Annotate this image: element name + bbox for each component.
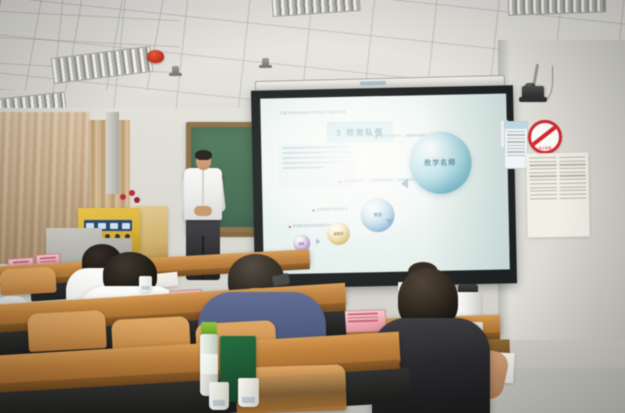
panel-button[interactable] (122, 223, 130, 229)
slide-bullet: 主持国家自然科学基金项目若干项 (292, 224, 331, 228)
classroom-photo: 高等学校教学质量与教学改革工程建设项目 3 师资队伍 省级教学名师若干人，校级教… (0, 0, 625, 413)
flower (120, 194, 126, 200)
housing-brand-label (360, 81, 386, 86)
notice-line (507, 138, 525, 139)
notice-line (559, 182, 586, 184)
slide-sphere-gold: 副教授 (327, 222, 350, 245)
slide-title-bar: 3 师资队伍 (327, 120, 393, 142)
notice-line (530, 187, 557, 189)
notice-line (507, 141, 525, 142)
wooden-lectern (136, 206, 168, 258)
text-line (282, 146, 346, 149)
slide-arrow-left-icon (401, 178, 408, 188)
slide-sphere-gold-label: 副教授 (334, 231, 344, 236)
sprinkler-head-icon (172, 66, 179, 75)
notice-line (507, 148, 525, 149)
paper-cup-in-hand (139, 276, 152, 292)
notice-board-header (505, 122, 527, 129)
wall-pillar (106, 112, 119, 194)
notice-line (559, 168, 586, 170)
presenter-hands (194, 206, 212, 216)
notice-line (507, 134, 525, 135)
water-bottle-label (200, 354, 218, 374)
no-smoking-slash (529, 124, 558, 148)
posted-notice-paper (526, 152, 589, 237)
slide-arrow-right-icon (316, 238, 320, 244)
paper-cup (209, 382, 229, 410)
notice-line (529, 164, 556, 166)
notice-line (530, 179, 557, 181)
chair-backrest (0, 267, 57, 296)
security-camera-base (519, 97, 547, 102)
notice-line (559, 171, 586, 173)
projection-screen-surface: 高等学校教学质量与教学改革工程建设项目 3 师资队伍 省级教学名师若干人，校级教… (260, 93, 510, 274)
notice-line (559, 160, 586, 162)
flower (134, 197, 140, 203)
notice-line (559, 190, 586, 192)
notice-line (559, 179, 586, 181)
notice-line (530, 198, 557, 200)
no-smoking-label: 禁止吸烟 (531, 146, 559, 150)
slide-bullet: 获省部级教学成果奖若干项 (317, 208, 348, 212)
notice-line (530, 172, 557, 174)
notice-line (559, 175, 586, 177)
notice-line (530, 194, 557, 196)
flower (129, 190, 135, 196)
notice-line (529, 157, 556, 159)
text-line (283, 160, 352, 163)
notice-line (507, 155, 525, 156)
slide-bullet: 省级教学团队若干个，国家级精品课程若干门，省级精品课程若干门 (343, 178, 421, 183)
text-line (283, 155, 350, 158)
slide-sphere-purple-label: 讲师 (298, 241, 304, 245)
sprinkler-head-icon (262, 58, 269, 67)
notice-board (504, 121, 528, 169)
notice-line (507, 131, 525, 132)
notice-line (559, 157, 586, 159)
notice-line (530, 168, 557, 170)
notice-line (530, 190, 557, 192)
no-smoking-sign-icon: 禁止吸烟 (528, 120, 562, 154)
notice-line (559, 193, 586, 195)
text-line (283, 150, 352, 153)
notice-line (507, 145, 525, 146)
paper-cup (238, 378, 259, 407)
notice-line (559, 164, 586, 166)
notice-line (530, 183, 557, 185)
notice-line (529, 161, 556, 163)
chair-backrest (27, 310, 107, 352)
notice-line (560, 197, 587, 199)
text-line (283, 166, 325, 169)
slide-sphere-main-label: 教学名师 (424, 157, 456, 168)
fire-alarm-dome-icon (147, 50, 164, 63)
slide-arrow-down-icon (386, 219, 394, 225)
slide-sphere-blue-label: 教授 (374, 212, 382, 218)
presenter-glasses-icon (198, 159, 209, 163)
slide-header-text: 高等学校教学质量与教学改革工程建设项目 (280, 109, 346, 115)
slide-sphere-blue: 教授 (361, 198, 396, 233)
slide-sphere-main: 教学名师 (409, 131, 472, 194)
notice-line (530, 175, 557, 177)
notice-line (507, 151, 525, 152)
panel-button[interactable] (110, 223, 118, 229)
notice-line (559, 186, 586, 188)
